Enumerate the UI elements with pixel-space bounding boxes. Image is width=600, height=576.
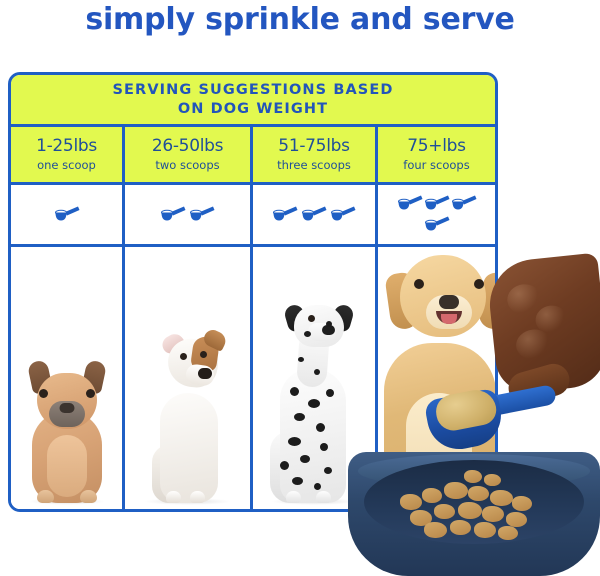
thumb — [505, 360, 573, 408]
weight-label-2: 26-50lbs — [152, 137, 223, 157]
scoop-group-4 — [389, 194, 485, 235]
scoop-icon — [272, 205, 298, 225]
scoop-icon — [160, 205, 186, 225]
weight-label-4: 75+lbs — [403, 137, 469, 157]
serving-suggestion-table: SERVING SUGGESTIONS BASED ON DOG WEIGHT … — [8, 72, 498, 512]
dalmatian-figure — [264, 291, 364, 503]
table-header-text: SERVING SUGGESTIONS BASED ON DOG WEIGHT — [113, 81, 394, 117]
scoops-label-3: three scoops — [277, 159, 351, 172]
scoop-icon — [451, 194, 477, 214]
scoop-icon — [189, 205, 215, 225]
table-header-line2: ON DOG WEIGHT — [178, 101, 328, 117]
scoop-cell-3 — [253, 185, 378, 244]
hand — [485, 253, 600, 396]
scoop-group-2 — [125, 205, 250, 225]
weight-cell-4: 75+lbs four scoops — [378, 127, 495, 182]
jack-russell-figure — [142, 323, 234, 503]
scoop-icons-row — [11, 185, 495, 247]
scoop-icon — [54, 205, 80, 225]
scoop-cell-4 — [378, 185, 495, 244]
table-header: SERVING SUGGESTIONS BASED ON DOG WEIGHT — [11, 75, 495, 127]
scoops-label-1: one scoop — [36, 159, 97, 172]
scoop-icon — [301, 205, 327, 225]
dog-photos-row — [11, 247, 495, 509]
french-bulldog-figure — [21, 355, 113, 503]
scoop-icon — [397, 194, 423, 214]
page-title: simply sprinkle and serve — [0, 2, 600, 37]
scoop-icon — [424, 194, 450, 214]
weight-cell-1: 1-25lbs one scoop — [11, 127, 125, 182]
weights-row: 1-25lbs one scoop 26-50lbs two scoops 51… — [11, 127, 495, 185]
scoop-icon — [424, 215, 450, 235]
falling-crumb — [480, 514, 485, 518]
scoop-group-3 — [253, 205, 375, 225]
dog-photo-golden-retriever — [378, 247, 495, 509]
weight-label-3: 51-75lbs — [277, 137, 351, 157]
weight-label-1: 1-25lbs — [36, 137, 97, 157]
dog-photo-french-bulldog — [11, 247, 125, 509]
scoop-icon — [330, 205, 356, 225]
table-header-line1: SERVING SUGGESTIONS BASED — [113, 82, 394, 98]
product-infographic: simply sprinkle and serve SERVING SUGGES… — [0, 0, 600, 572]
scoop-group-1 — [11, 205, 122, 225]
weight-cell-3: 51-75lbs three scoops — [253, 127, 378, 182]
scoops-label-2: two scoops — [152, 159, 223, 172]
dog-photo-jack-russell-terrier — [125, 247, 253, 509]
dog-photo-dalmatian — [253, 247, 378, 509]
scoop-cell-1 — [11, 185, 125, 244]
scoop-cell-2 — [125, 185, 253, 244]
scoops-label-4: four scoops — [403, 159, 469, 172]
golden-retriever-figure — [378, 247, 495, 509]
weight-cell-2: 26-50lbs two scoops — [125, 127, 253, 182]
